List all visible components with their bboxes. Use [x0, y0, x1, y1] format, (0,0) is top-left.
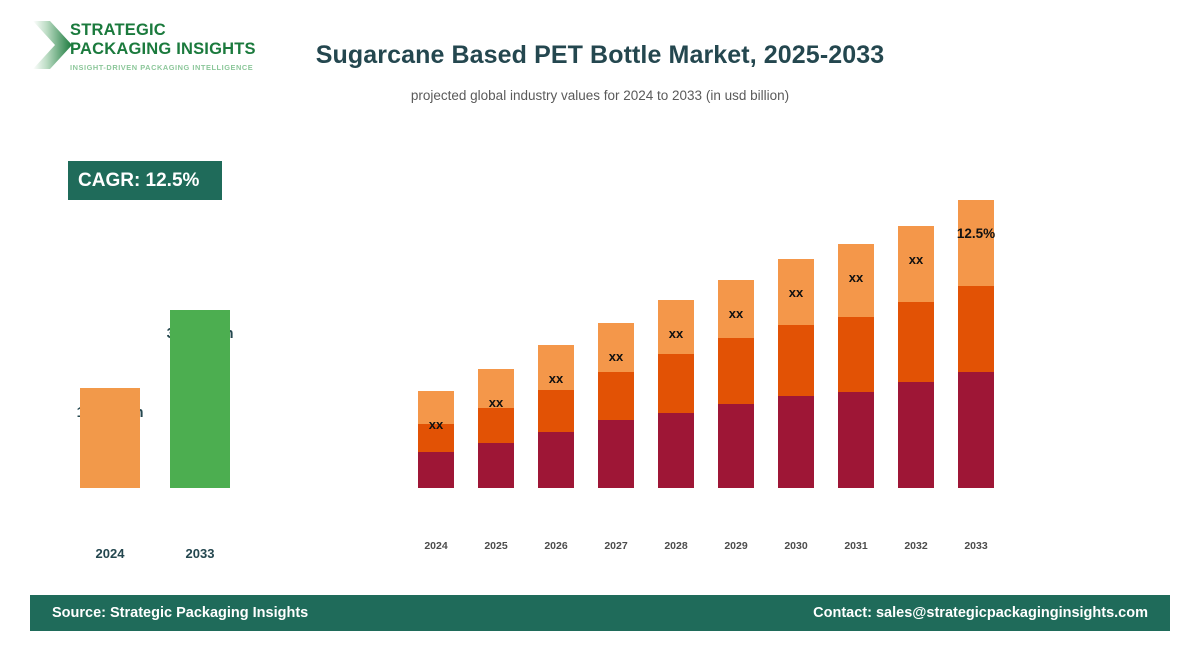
bar-segment-segment-bottom: [598, 420, 634, 488]
stacked-bar-2033: [958, 200, 994, 488]
bar-segment-segment-top: [598, 323, 634, 372]
bar-value-label: xx: [696, 306, 776, 321]
bar-category-label: 2033: [170, 546, 230, 561]
bar-value-label: xx: [636, 326, 716, 341]
bar-segment-segment-top: [958, 200, 994, 286]
footer-contact[interactable]: Contact: sales@strategicpackaginginsight…: [813, 605, 1148, 621]
bar-category-label: 2027: [592, 540, 640, 552]
bar-value-label: xx: [876, 252, 956, 267]
stacked-bar-chart: xx2024xx2025xx2026xx2027xx2028xx2029xx20…: [400, 0, 1040, 600]
stacked-bar-2027: [598, 323, 634, 488]
bar-category-label: 2024: [80, 546, 140, 561]
bar-value-label: xx: [756, 285, 836, 300]
bar-category-label: 2031: [832, 540, 880, 552]
bar-2033: [170, 310, 230, 488]
bar-value-label: 12.5%: [936, 226, 1016, 241]
bar-value-label: xx: [516, 371, 596, 386]
bar-segment-segment-middle: [778, 325, 814, 396]
bar-segment-segment-middle: [538, 390, 574, 432]
bar-category-label: 2026: [532, 540, 580, 552]
bar-segment-segment-bottom: [898, 382, 934, 488]
bar-category-label: 2032: [892, 540, 940, 552]
stacked-bar-2026: [538, 345, 574, 488]
bar-segment-segment-bottom: [838, 392, 874, 488]
bar-category-label: 2030: [772, 540, 820, 552]
bar-segment-segment-bottom: [658, 413, 694, 488]
bar-segment-segment-middle: [658, 354, 694, 412]
bar-category-label: 2028: [652, 540, 700, 552]
bar-segment-segment-bottom: [538, 432, 574, 488]
bar-segment-segment-middle: [898, 302, 934, 381]
bar-segment-segment-middle: [598, 372, 634, 420]
footer-source: Source: Strategic Packaging Insights: [52, 605, 308, 621]
bar-category-label: 2029: [712, 540, 760, 552]
bar-segment-segment-middle: [838, 317, 874, 392]
bar-value-label: xx: [396, 417, 476, 432]
bar-value-label: xx: [816, 270, 896, 285]
bar-segment-segment-middle: [718, 338, 754, 404]
bar-segment-segment-middle: [478, 408, 514, 443]
bar-segment-segment-middle: [958, 286, 994, 372]
bar-segment-segment-bottom: [418, 452, 454, 488]
bar-segment-segment-bottom: [778, 396, 814, 488]
bar-segment-segment-bottom: [478, 443, 514, 488]
stacked-bar-2024: [418, 391, 454, 488]
bar-segment-segment-bottom: [958, 372, 994, 488]
stacked-bar-2025: [478, 369, 514, 488]
footer-bar: Source: Strategic Packaging Insights Con…: [30, 595, 1170, 631]
bar-value-label: xx: [456, 395, 536, 410]
bar-category-label: 2033: [952, 540, 1000, 552]
bar-segment-segment-bottom: [718, 404, 754, 488]
bar-value-label: xx: [576, 349, 656, 364]
bar-2024: [80, 388, 140, 488]
bar-category-label: 2024: [412, 540, 460, 552]
bar-category-label: 2025: [472, 540, 520, 552]
comparison-bar-chart: 1.2 billion 3.5 billion 2024 2033: [0, 0, 320, 600]
